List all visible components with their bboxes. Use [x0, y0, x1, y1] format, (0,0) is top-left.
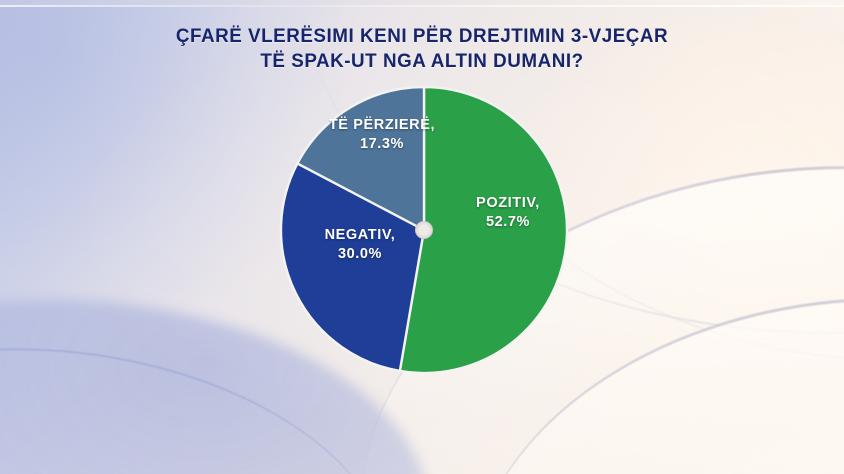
- title-line-1: ÇFARË VLERËSIMI KENI PËR DREJTIMIN 3-VJE…: [15, 24, 829, 49]
- pie-chart-svg: [280, 86, 568, 374]
- page-title: ÇFARË VLERËSIMI KENI PËR DREJTIMIN 3-VJE…: [0, 24, 844, 74]
- pie-chart: POZITIV, 52.7% NEGATIV, 30.0% TË PËRZIER…: [280, 86, 568, 374]
- broadcast-poll-graphic: ÇFARË VLERËSIMI KENI PËR DREJTIMIN 3-VJE…: [0, 0, 844, 474]
- top-highlight-line: [0, 5, 844, 7]
- pie-center-hub-inner: [419, 225, 430, 236]
- title-line-2: TË SPAK-UT NGA ALTIN DUMANI?: [15, 49, 829, 74]
